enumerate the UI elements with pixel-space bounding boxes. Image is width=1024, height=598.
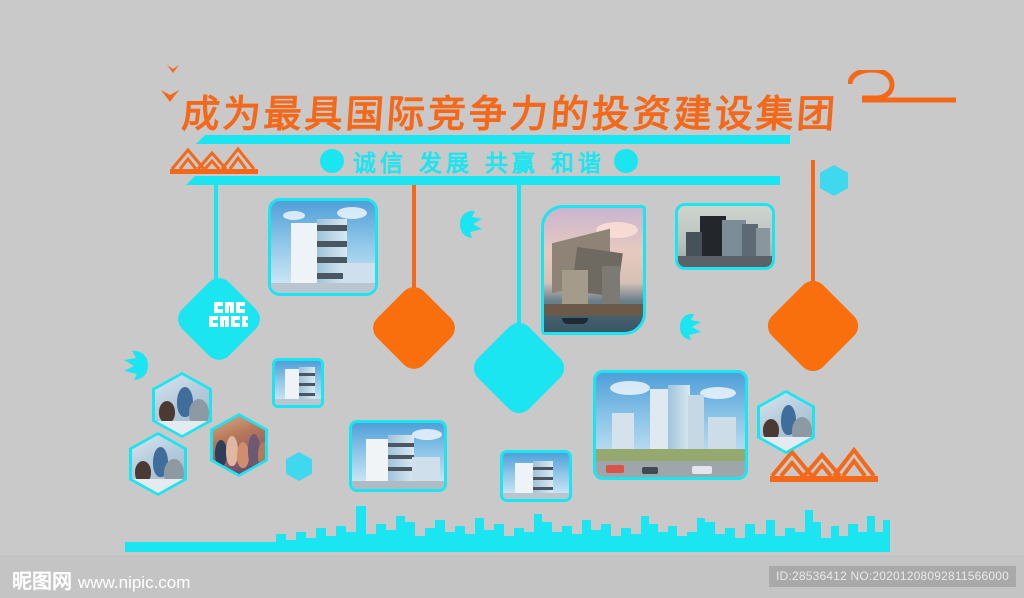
divider-bar-top — [205, 135, 790, 144]
hex-team-meeting-1[interactable] — [152, 372, 212, 438]
connector-line-2 — [412, 185, 416, 295]
subtitle-dot-right — [614, 149, 638, 173]
bird-icon-center — [458, 208, 486, 245]
accent-diamond-orange-left — [367, 281, 460, 374]
hex-crowd-group[interactable] — [210, 413, 268, 477]
photo-small-tower[interactable] — [272, 358, 324, 408]
image-id-badge: ID:28536412 NO:20201208092811566000 — [769, 566, 1016, 587]
subtitle-dot-left — [320, 149, 344, 173]
hex-team-meeting-2[interactable] — [129, 432, 187, 496]
decor-hex-small-top-right — [820, 165, 848, 196]
subtitle-text: 诚信 发展 共赢 和谐 — [353, 144, 605, 178]
bird-icon — [166, 64, 180, 81]
photo-waterfront-museum[interactable] — [541, 205, 646, 335]
subtitle-group: 诚信 发展 共赢 和谐 — [320, 144, 638, 178]
photo-apartment-block[interactable] — [500, 450, 572, 502]
city-skyline-icon — [125, 498, 890, 555]
nipic-logo-url: www.nipic.com — [78, 573, 190, 593]
photo-dark-office-complex[interactable] — [675, 203, 775, 270]
accent-diamond-orange-right — [762, 275, 864, 377]
page-title: 成为最具国际竞争力的投资建设集团 — [180, 83, 864, 138]
connector-line-3 — [517, 185, 521, 330]
bird-icon — [160, 88, 180, 112]
photo-city-avenue-towers[interactable] — [593, 370, 748, 480]
nipic-logo-cn: 昵图网 — [12, 565, 72, 594]
bird-icon-left — [118, 348, 150, 387]
mountain-icon-left — [168, 142, 260, 181]
photo-residential-block[interactable] — [349, 420, 447, 492]
cscec-logo — [205, 298, 251, 340]
poster-canvas: 成为最具国际竞争力的投资建设集团 诚信 发展 共赢 和谐 — [0, 0, 1024, 555]
photo-office-tower[interactable] — [268, 198, 378, 296]
connector-line-4 — [811, 160, 815, 290]
bird-icon-right — [678, 312, 704, 347]
decor-hex-small-bottom-left — [286, 452, 312, 481]
nipic-logo: 昵图网 www.nipic.com — [12, 565, 190, 594]
cloud-swirl-icon — [848, 70, 958, 118]
